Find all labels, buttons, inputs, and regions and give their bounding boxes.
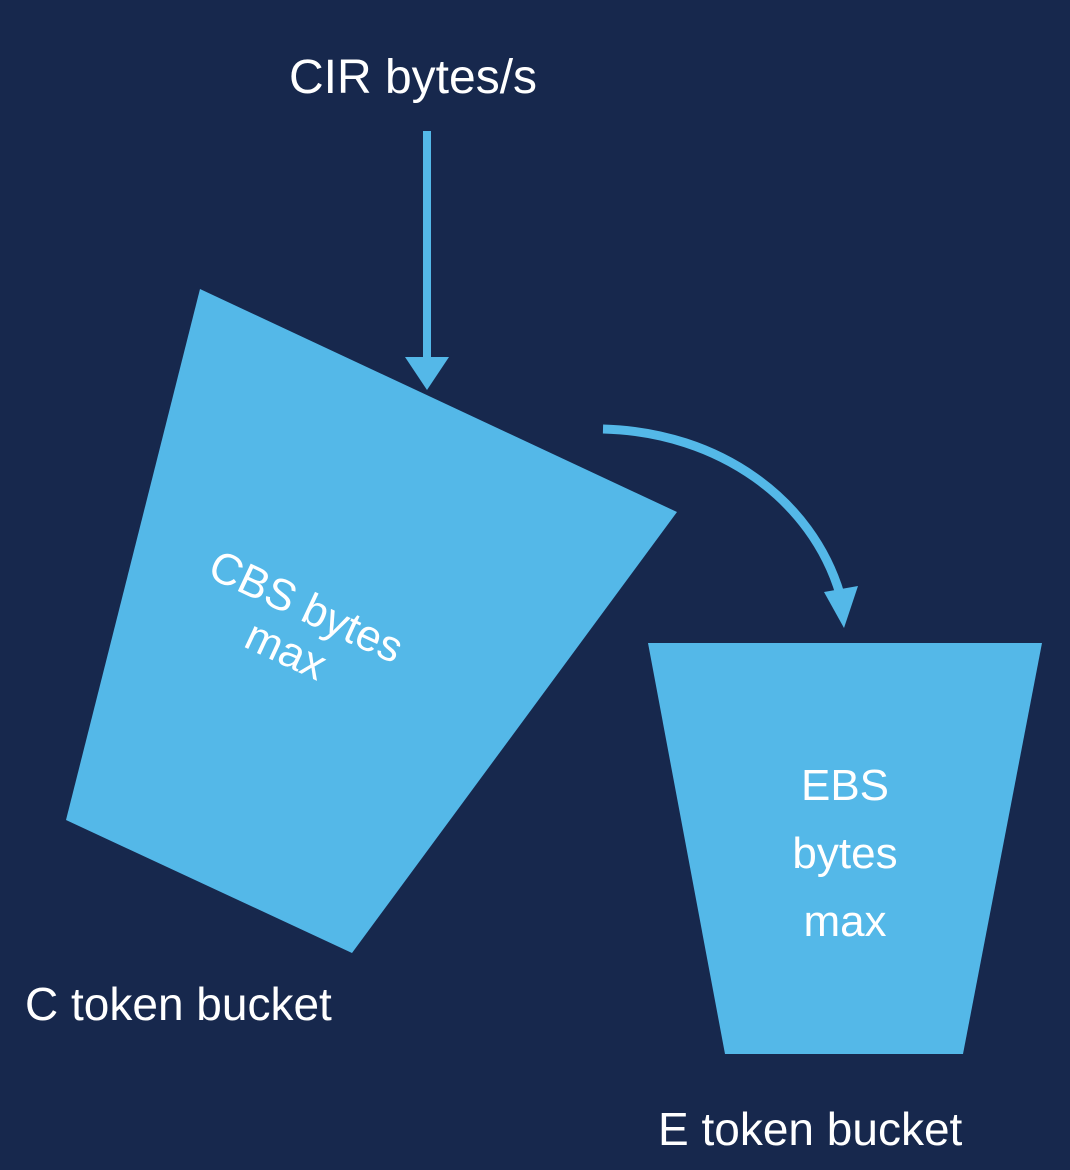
cir-inflow-arrow-shaft	[423, 131, 431, 361]
e-bucket-inner-line-3: max	[803, 897, 886, 946]
diagram-canvas: CIR bytes/s CBS bytes max EBS bytes max …	[0, 0, 1070, 1170]
cir-inflow-label: CIR bytes/s	[289, 51, 537, 104]
e-token-bucket-caption: E token bucket	[658, 1103, 963, 1155]
e-bucket-inner-text: EBS bytes max	[792, 761, 897, 946]
e-bucket-inner-line-1: EBS	[801, 761, 889, 810]
e-bucket-inner-line-2: bytes	[792, 829, 897, 878]
c-token-bucket-caption: C token bucket	[25, 978, 332, 1030]
token-bucket-diagram: CIR bytes/s CBS bytes max EBS bytes max …	[0, 0, 1070, 1170]
